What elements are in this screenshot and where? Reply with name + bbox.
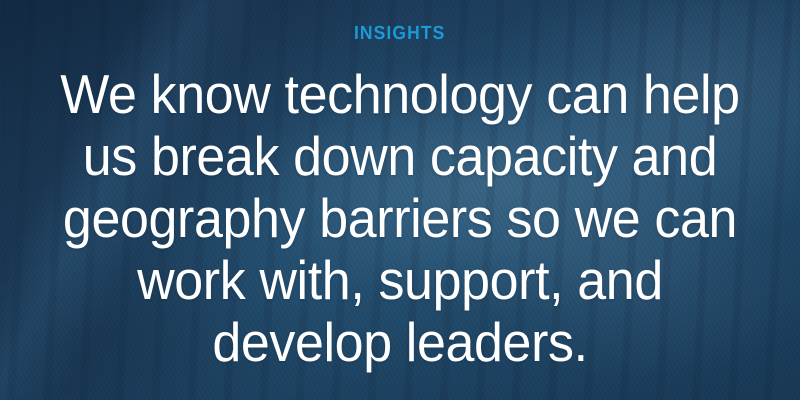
quote-line-1: We know technology can help [22, 63, 778, 125]
quote-text: We know technology can help us break dow… [0, 63, 800, 373]
eyebrow-label-insights: INSIGHTS [354, 24, 445, 43]
quote-line-4: work with, support, and [22, 249, 778, 311]
card-content: INSIGHTS We know technology can help us … [0, 0, 800, 400]
quote-line-2: us break down capacity and [22, 125, 778, 187]
quote-line-5: develop leaders. [22, 311, 778, 373]
quote-line-3: geography barriers so we can [22, 187, 778, 249]
insights-quote-card: INSIGHTS We know technology can help us … [0, 0, 800, 400]
